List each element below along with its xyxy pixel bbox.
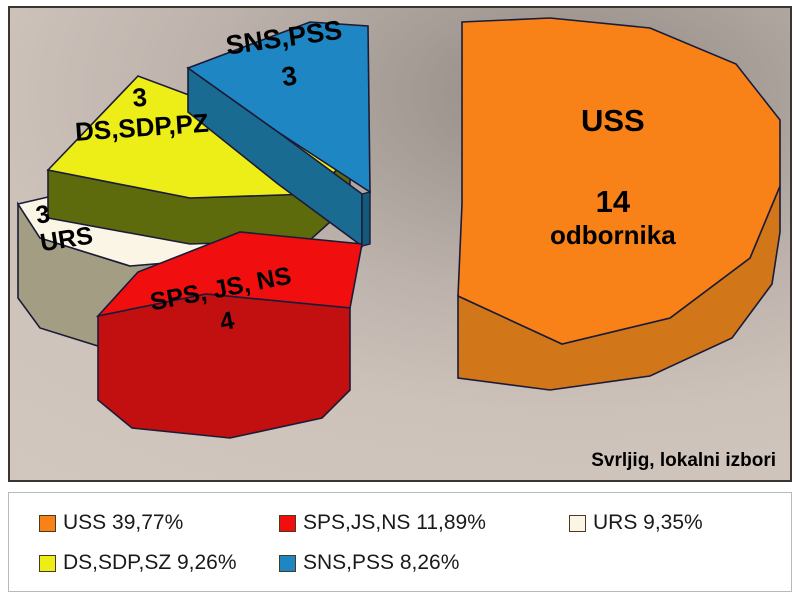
legend-label-ds-sdp-sz: DS,SDP,SZ 9,26% (63, 551, 237, 575)
legend-swatch-urs (569, 515, 586, 532)
plot-area: USS 14 odbornika SNS,PSS 3 3 DS,SDP,PZ 3… (8, 6, 792, 482)
legend-item-uss[interactable]: USS 39,77% (9, 511, 279, 535)
legend-item-sps-js-ns[interactable]: SPS,JS,NS 11,89% (279, 511, 569, 535)
legend-row: DS,SDP,SZ 9,26% SNS,PSS 8,26% (9, 543, 791, 583)
legend-label-sns-pss: SNS,PSS 8,26% (303, 551, 459, 575)
legend-swatch-uss (39, 515, 56, 532)
slice-uss[interactable] (458, 18, 780, 390)
legend-label-sps-js-ns: SPS,JS,NS 11,89% (303, 511, 486, 535)
pie-3d-graphic (10, 8, 790, 480)
legend-label-urs: URS 9,35% (593, 511, 703, 535)
chart-caption: Svrljig, lokalni izbori (591, 450, 776, 472)
legend-item-sns-pss[interactable]: SNS,PSS 8,26% (279, 551, 569, 575)
chart-legend: USS 39,77% SPS,JS,NS 11,89% URS 9,35% DS… (8, 492, 792, 592)
legend-swatch-ds-sdp-sz (39, 555, 56, 572)
slice-sps-side (98, 294, 350, 438)
legend-item-urs[interactable]: URS 9,35% (569, 511, 789, 535)
pie-chart-figure: USS 14 odbornika SNS,PSS 3 3 DS,SDP,PZ 3… (0, 0, 800, 600)
legend-swatch-sns-pss (279, 555, 296, 572)
legend-item-ds-sdp-sz[interactable]: DS,SDP,SZ 9,26% (9, 551, 279, 575)
legend-swatch-sps-js-ns (279, 515, 296, 532)
legend-label-uss: USS 39,77% (63, 511, 183, 535)
slice-sns-side-right (362, 192, 370, 246)
legend-row: USS 39,77% SPS,JS,NS 11,89% URS 9,35% (9, 503, 791, 543)
